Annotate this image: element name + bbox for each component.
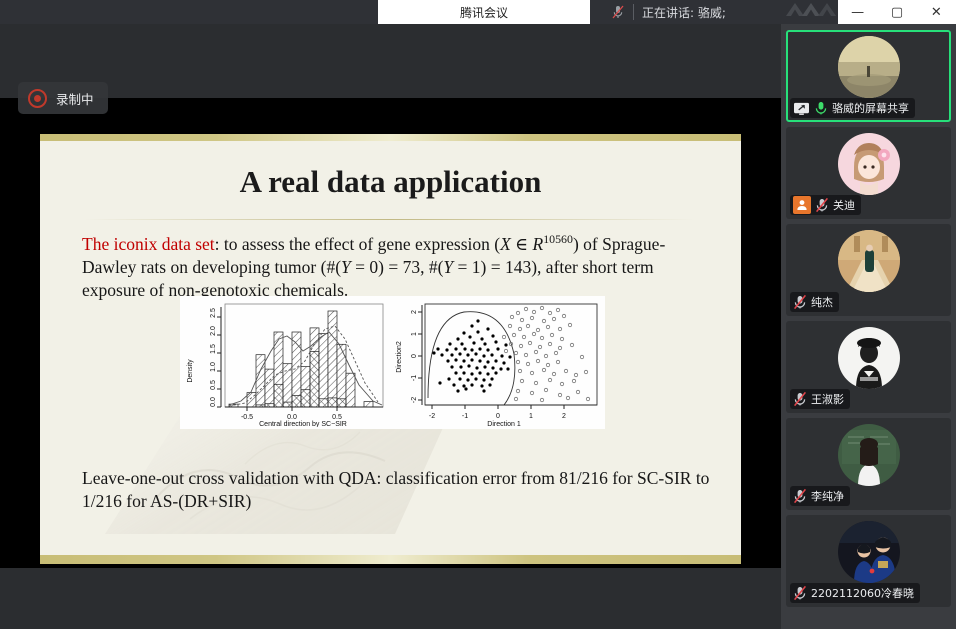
scatter-xtick-1: 1 [529,413,533,420]
participant-name: 纯杰 [811,294,833,310]
participant-name: 关迪 [833,197,855,213]
avatar [838,327,900,389]
histogram-ytick-2-0: 2.0 [210,326,217,336]
participant-name: 2202112060冷春晓 [811,585,914,601]
histogram-xtick-0-5: 0.5 [332,414,342,421]
mic-on-icon [814,100,828,116]
tile-info-bar: 关迪 [790,195,861,215]
histogram-x-label: Central direction by SC−SIR [259,421,347,427]
scatter-ytick-2: 2 [411,309,418,313]
maximize-button[interactable]: ▢ [877,0,916,24]
histogram-ytick-0-5: 0.5 [210,380,217,390]
participant-tile-wangshuying[interactable]: 王淑影 [786,321,951,413]
speaking-status: 正在讲话: 骆威; [642,4,726,21]
tile-info-bar: 王淑影 [790,389,850,409]
participant-tile-screen-share[interactable]: 骆威的屏幕共享 [786,30,951,122]
mic-muted-icon [793,585,807,601]
math-variable-y1: Y [341,257,351,277]
close-button[interactable]: ✕ [917,0,956,24]
mic-muted-icon[interactable] [610,4,626,20]
histogram-ytick-0-0: 0.0 [210,397,217,407]
avatar [838,521,900,583]
math-variable-x: X [500,234,511,254]
math-exponent: 10560 [543,232,573,246]
mic-muted-icon [793,294,807,310]
participant-name: 王淑影 [811,391,844,407]
avatar [838,36,900,98]
histogram-ytick-1-0: 1.0 [210,362,217,372]
avatar [838,133,900,195]
tile-info-bar: 骆威的屏幕共享 [790,98,915,118]
screen-share-stage: A real data application The iconix data … [0,24,781,605]
scatter-chart: Direction2 2 1 0 -1 -2 [392,299,602,427]
mic-muted-icon [793,488,807,504]
participant-tile-guandi[interactable]: 关迪 [786,127,951,219]
recording-badge[interactable]: 录制中 [18,82,108,114]
mic-muted-icon [815,197,829,213]
histogram-xtick-0-0: 0.0 [287,414,297,421]
intro-text-part1: : to assess the effect of gene expressio… [215,234,500,254]
mic-muted-icon [793,391,807,407]
math-variable-r: R [533,234,544,254]
tencent-meeting-logo-icon [782,0,838,24]
window-controls: — ▢ ✕ [838,0,956,24]
screen-share-icon [793,101,810,116]
slide-title-rule [85,219,695,220]
record-dot-icon [28,89,47,108]
tile-info-bar: 纯杰 [790,292,839,312]
slide-paragraph-conclusion: Leave-one-out cross validation with QDA:… [82,467,722,513]
window-tab-tencent-meeting[interactable]: 腾讯会议 [378,0,590,24]
scatter-xtick-neg-1: -1 [462,413,468,420]
histogram-y-label: Density [187,358,194,382]
recording-label: 录制中 [56,89,94,108]
scatter-ytick-neg-1: -1 [411,374,418,380]
histogram-ytick-1-5: 1.5 [210,344,217,354]
iconix-lead-text: The iconix data set [82,234,215,254]
participant-rail[interactable]: 骆威的屏幕共享 [781,24,956,629]
histogram-ytick-2-5: 2.5 [210,308,217,318]
avatar [838,230,900,292]
slide-bottom-bar [40,555,741,564]
scatter-xtick-0: 0 [496,413,500,420]
scatter-y-label: Direction2 [396,341,403,373]
histogram-chart: Density 2.5 2.0 1.5 1.0 0.5 0.0 [183,299,388,427]
scatter-ytick-neg-2: -2 [411,396,418,402]
participant-tile-lengchunxiao[interactable]: 2202112060冷春晓 [786,515,951,607]
title-bar: 腾讯会议 正在讲话: 骆威; — ▢ ✕ [0,0,956,24]
meeting-window: 腾讯会议 正在讲话: 骆威; — ▢ ✕ [0,0,956,629]
participant-name: 骆威的屏幕共享 [832,100,909,116]
tile-info-bar: 李纯净 [790,486,850,506]
scatter-x-label: Direction 1 [487,421,521,427]
participant-name: 李纯净 [811,488,844,504]
slide-title: A real data application [40,164,741,200]
math-member-symbol: ∈ [511,234,533,254]
math-equation-1: = 0) = 73, #( [351,257,444,277]
scatter-ytick-0: 0 [411,353,418,357]
participant-tile-chunjie[interactable]: 纯杰 [786,224,951,316]
slide-paragraph-intro: The iconix data set: to assess the effec… [82,232,712,302]
scatter-xtick-2: 2 [562,413,566,420]
tile-info-bar: 2202112060冷春晓 [790,583,920,603]
avatar [838,424,900,486]
figure-panel: Density 2.5 2.0 1.5 1.0 0.5 0.0 [180,296,605,429]
slide-top-bar [40,134,741,141]
window-tab-label: 腾讯会议 [460,4,508,21]
histogram-xtick-neg-0-5: -0.5 [241,414,253,421]
scatter-ytick-1: 1 [411,331,418,335]
participant-tile-lichunjing[interactable]: 李纯净 [786,418,951,510]
host-icon [793,196,811,214]
minimize-button[interactable]: — [838,0,877,24]
scatter-xtick-neg-2: -2 [429,413,435,420]
titlebar-divider [633,4,634,20]
math-variable-y2: Y [443,257,453,277]
shared-slide: A real data application The iconix data … [40,134,741,564]
